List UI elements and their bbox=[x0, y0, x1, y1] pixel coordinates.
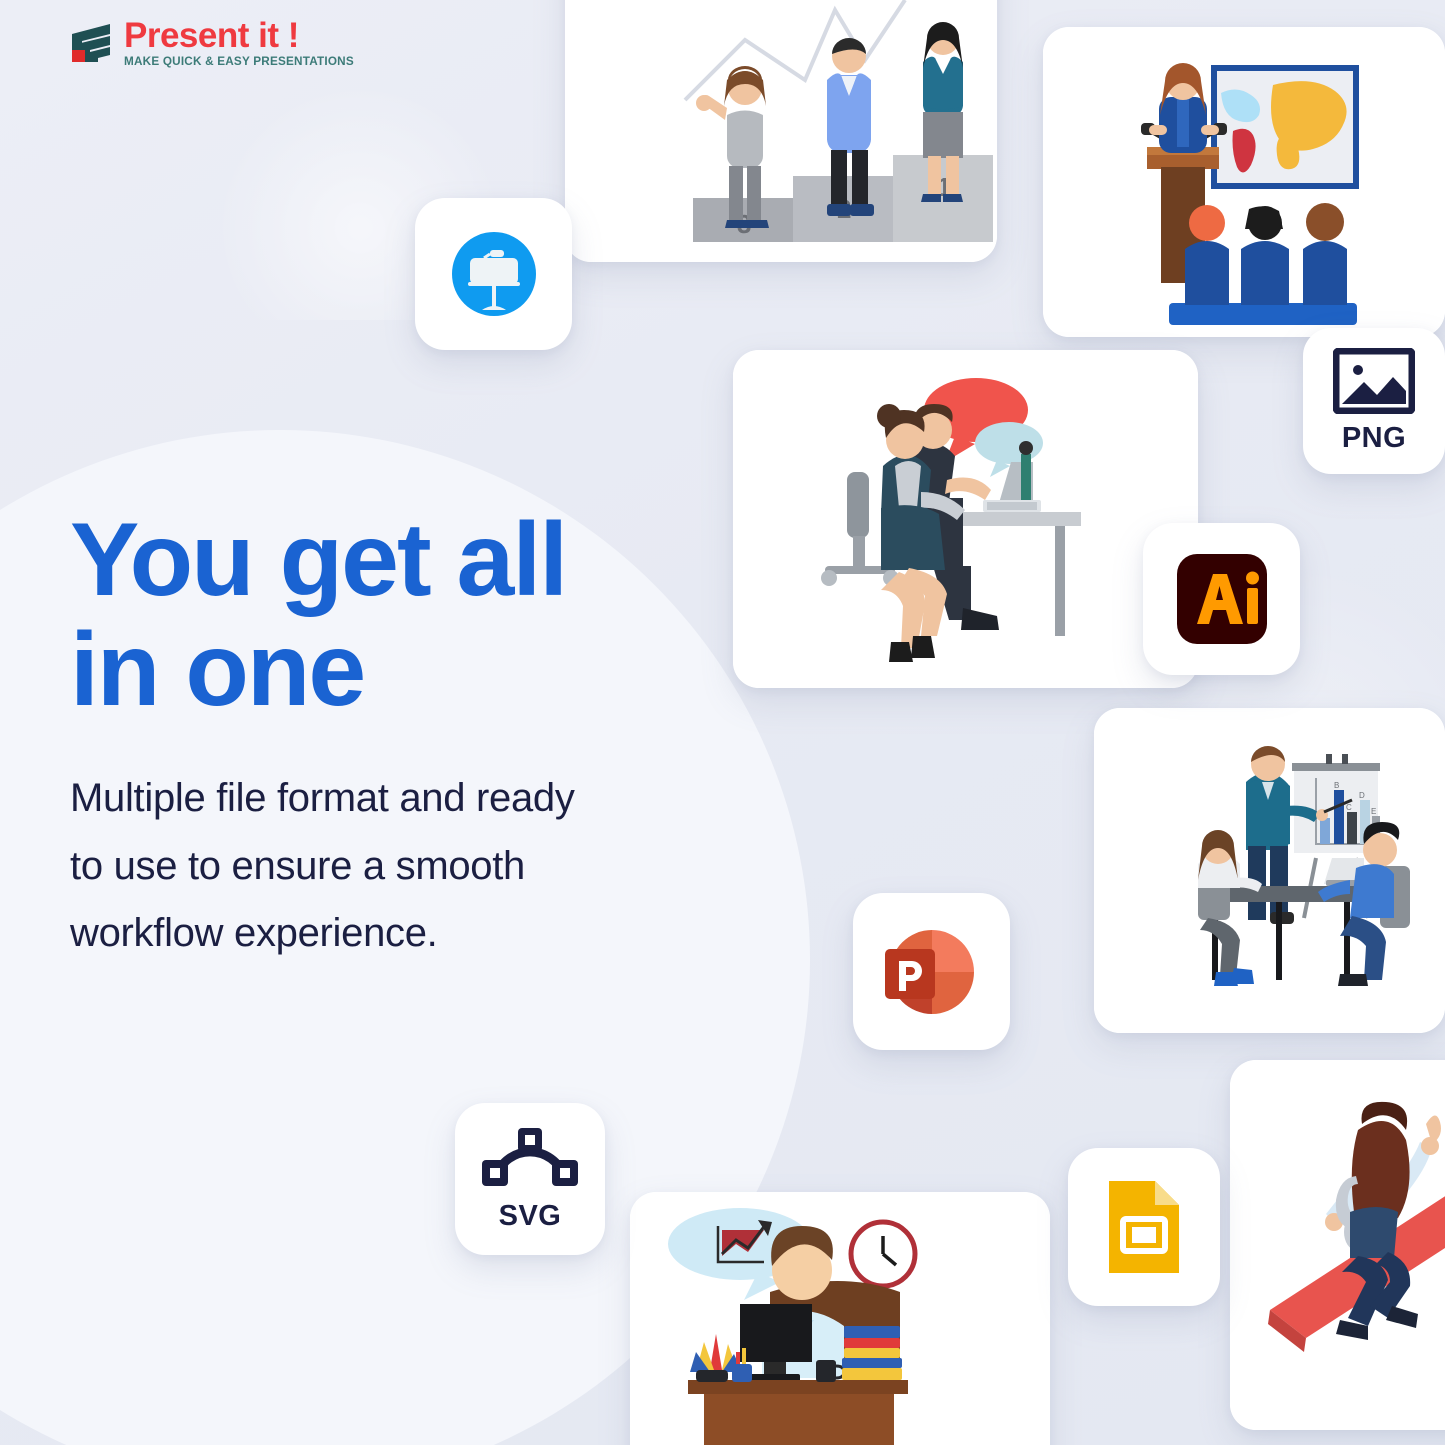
brand-logo[interactable]: Present it ! MAKE QUICK & EASY PRESENTAT… bbox=[68, 18, 349, 68]
format-badge-png[interactable]: PNG bbox=[1303, 328, 1445, 474]
image-frame-icon bbox=[1333, 348, 1415, 414]
brand-tagline: MAKE QUICK & EASY PRESENTATIONS bbox=[124, 56, 354, 68]
career-growth-illustration bbox=[1230, 1060, 1445, 1430]
bezier-curve-icon bbox=[480, 1126, 580, 1188]
desk-discussion-illustration bbox=[733, 350, 1198, 688]
nested-corner-bars-icon bbox=[68, 20, 114, 66]
conference-speaker-illustration bbox=[1043, 27, 1445, 337]
page-title: You get all in one bbox=[70, 505, 770, 725]
format-badge-illustrator[interactable] bbox=[1143, 523, 1300, 675]
format-badge-label: SVG bbox=[499, 1200, 562, 1233]
format-badge-svg[interactable]: SVG bbox=[455, 1103, 605, 1255]
keynote-icon bbox=[446, 226, 542, 322]
office-worker-illustration bbox=[630, 1192, 1050, 1445]
format-badge-label: PNG bbox=[1342, 422, 1406, 455]
brand-text: Present it ! MAKE QUICK & EASY PRESENTAT… bbox=[124, 18, 349, 68]
winners-podium-illustration: 3 2 1 bbox=[565, 0, 997, 262]
poster-canvas: Present it ! MAKE QUICK & EASY PRESENTAT… bbox=[0, 0, 1445, 1445]
hero-copy: You get all in one Multiple file format … bbox=[70, 505, 770, 967]
google-slides-icon bbox=[1103, 1177, 1185, 1277]
format-badge-google-slides[interactable] bbox=[1068, 1148, 1220, 1306]
brand-wordmark: Present it ! bbox=[124, 18, 349, 53]
format-badge-keynote[interactable] bbox=[415, 198, 572, 350]
format-badge-powerpoint[interactable] bbox=[853, 893, 1010, 1050]
svg-text:E: E bbox=[1371, 807, 1376, 816]
boardroom-presentation-illustration: A B C D E bbox=[1094, 708, 1445, 1033]
powerpoint-icon bbox=[879, 919, 985, 1025]
adobe-illustrator-icon bbox=[1173, 550, 1271, 648]
svg-text:B: B bbox=[1334, 781, 1339, 790]
svg-text:D: D bbox=[1359, 791, 1365, 800]
hero-subcopy: Multiple file format and ready to use to… bbox=[70, 765, 770, 967]
svg-text:C: C bbox=[1346, 803, 1352, 812]
